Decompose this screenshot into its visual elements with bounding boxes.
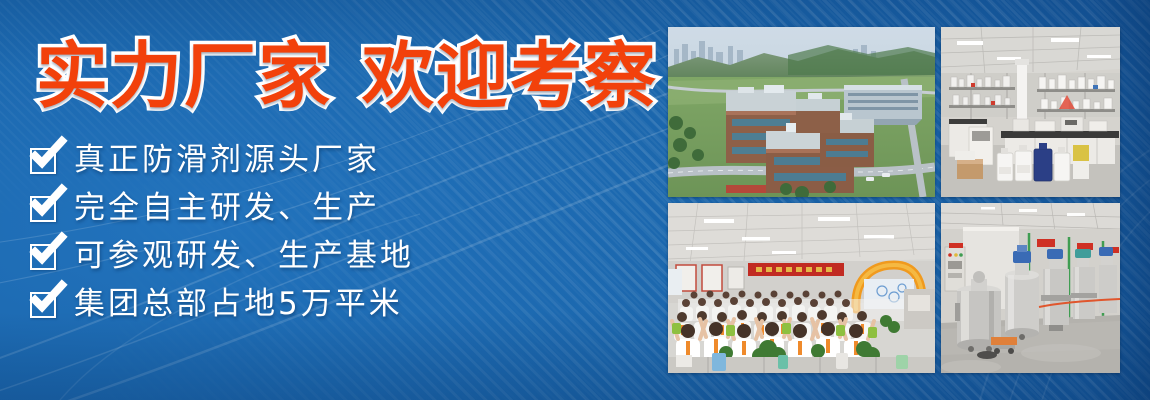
laboratory-photo: [941, 27, 1120, 197]
headline-part-1: 实力厂家: [36, 34, 332, 118]
headline-part-2: 欢迎考察: [362, 34, 658, 118]
feature-list: 真正防滑剂源头厂家 完全自主研发、生产 可参观研发、生产基地: [30, 142, 414, 323]
office-staff-photo: [668, 203, 935, 373]
list-item-label: 集团总部占地5万平米: [74, 289, 403, 320]
photo-gallery: [668, 27, 1120, 373]
checkbox-checked-icon: [30, 292, 56, 318]
list-item: 集团总部占地5万平米: [30, 286, 414, 323]
list-item-label: 可参观研发、生产基地: [74, 241, 414, 272]
list-item: 真正防滑剂源头厂家: [30, 142, 414, 179]
list-item-label: 完全自主研发、生产: [74, 193, 380, 224]
checkbox-checked-icon: [30, 196, 56, 222]
checkbox-checked-icon: [30, 148, 56, 174]
list-item: 可参观研发、生产基地: [30, 238, 414, 275]
aerial-campus-photo: [668, 27, 935, 197]
page-title: 实力厂家欢迎考察: [36, 40, 658, 112]
production-line-photo: [941, 203, 1120, 373]
list-item-label: 真正防滑剂源头厂家: [74, 145, 380, 176]
list-item: 完全自主研发、生产: [30, 190, 414, 227]
promo-banner: 实力厂家欢迎考察 真正防滑剂源头厂家 完全自主研发、生产: [0, 0, 1150, 400]
checkbox-checked-icon: [30, 244, 56, 270]
